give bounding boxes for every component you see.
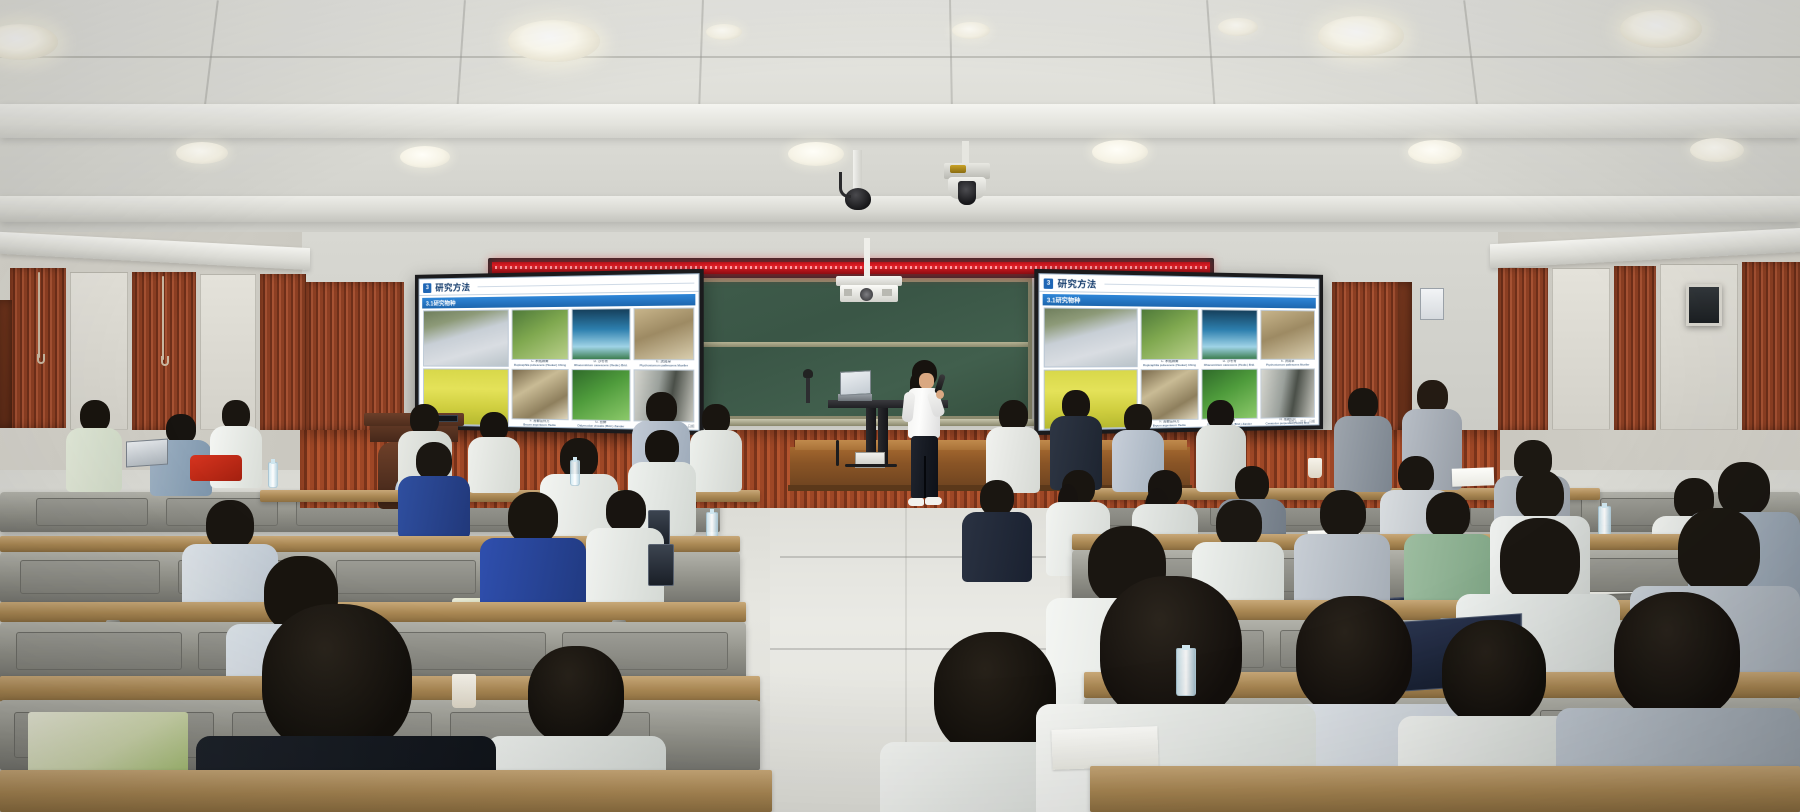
specimen-cell: C. 木贼麻黄 Rupicaphila pubescens (Hooker) C… [1140,309,1198,368]
wall-wood-panel [1742,262,1800,430]
slide-section-number: 3 [423,283,432,293]
specimen-cell: C. 木贼麻黄 Rupicaphila pubescens (Hooker) C… [511,309,568,367]
specimen-photo [511,309,568,360]
slide-footer: 报告人：姓名 日期 [1289,419,1315,424]
water-bottle [268,462,278,488]
specimen-sci: Didymodon vinealis (Brid.) Zander [571,424,630,428]
specimen-sci: Ptychostomum pallescens Mueller [633,364,694,368]
audience-member [962,480,1032,580]
audience-member [398,442,470,536]
specimen-cell: G. 苔藓 Didymodon vinealis (Brid.) Zander [571,369,630,428]
ceiling-downlight [788,142,844,166]
lecture-hall-photo: 3 研究方法 3.1研究物种 C. 木贼麻黄 Rupicaphila [0,0,1800,812]
coffee-cup [1308,458,1322,478]
coffee-cup [452,674,476,708]
presenter [900,360,948,508]
presenter-shoe-right [925,497,942,505]
specimen-sci: Ptychostomum pallescens Mueller [1260,363,1315,366]
ceiling-downlight [1620,10,1702,48]
curtain-cord [162,276,164,360]
presenter-leg-split [924,456,926,498]
wall-sign [1420,288,1444,320]
paper-notes [1051,726,1158,770]
specimen-cell: E. 虎尾草 Ptychostomum pallescens Mueller [633,307,694,367]
curtain-cord [38,272,40,358]
slide-title-rule [478,283,694,288]
wall-wood-panel [1614,266,1656,430]
specimen-sci: Rhacomitrium canescens (Hedw.) Brid. [1201,364,1257,367]
presenter-face [919,373,934,389]
presenter-hand [936,390,944,399]
ceiling-downlight [400,146,450,168]
paper-notes [1452,467,1495,486]
desk-row-foreground [1090,766,1800,812]
specimen-photo [633,307,694,360]
specimen-photo [571,308,630,360]
rear-wood-panel [306,282,404,430]
specimen-photo [1201,309,1257,360]
ceiling-downlight [706,24,742,40]
wall-wood-panel [1498,268,1548,430]
ceiling-downlight [508,20,600,62]
audience-member [690,404,742,492]
ceiling-downlight [1092,140,1148,164]
slide-title: 研究方法 [1058,277,1097,291]
water-bottle [1176,648,1196,696]
tote-bag [190,455,242,481]
specimen-cell: D. 沙冬青 Rhacomitrium canescens (Hedw.) Br… [571,308,630,367]
audience-member [986,400,1040,492]
wall-wood-panel [132,272,196,430]
specimen-photo [1260,368,1315,418]
presenter-shoe-left [908,498,924,506]
specimen-cell: H. 孢蒴切片 Ceratodon purpureus (Hedw.) Brid… [1260,368,1315,425]
wall-wood-panel [260,274,306,430]
hero-photo-field-site [423,310,508,367]
laptop[interactable] [126,439,168,468]
desk-row-foreground [0,770,772,812]
slide-subsection: 3.1研究物种 [422,294,695,309]
audience-member [468,412,520,492]
slide-section-number: 3 [1044,278,1054,289]
specimen-cell: E. 虎尾草 Ptychostomum pallescens Mueller [1260,310,1315,367]
ceiling-downlight [1690,138,1744,162]
slide-subsection: 3.1研究物种 [1043,294,1316,309]
specimen-photo [1260,310,1315,360]
specimen-sci: Rupicaphila pubescens (Hooker) Ching [511,364,568,367]
audience-member [66,400,122,492]
specimen-photo [1140,309,1198,361]
wall-speaker [1686,284,1722,326]
ceiling-downlight [1318,16,1404,56]
specimen-photo [571,369,630,421]
microphone-stand[interactable] [806,375,810,403]
hero-photo-field-site [1044,307,1138,367]
smartphone[interactable] [648,544,674,586]
specimen-sci: Rhacomitrium canescens (Hedw.) Brid. [571,364,630,367]
wall-plaster-panel [1552,268,1610,430]
side-door-left[interactable] [0,300,12,428]
slide-title: 研究方法 [435,281,470,294]
specimen-cell: D. 沙冬青 Rhacomitrium canescens (Hedw.) Br… [1201,309,1257,367]
water-bottle [570,460,580,486]
ceiling-downlight [1218,18,1258,36]
slide-title-rule [1105,284,1315,289]
ceiling-downlight [1408,140,1462,164]
ceiling-downlight [176,142,228,164]
specimen-sci: Rupicaphila pubescens (Hooker) Ching [1140,364,1198,367]
presenter-laptop-screen[interactable] [840,370,871,396]
ceiling-downlight [952,22,990,39]
